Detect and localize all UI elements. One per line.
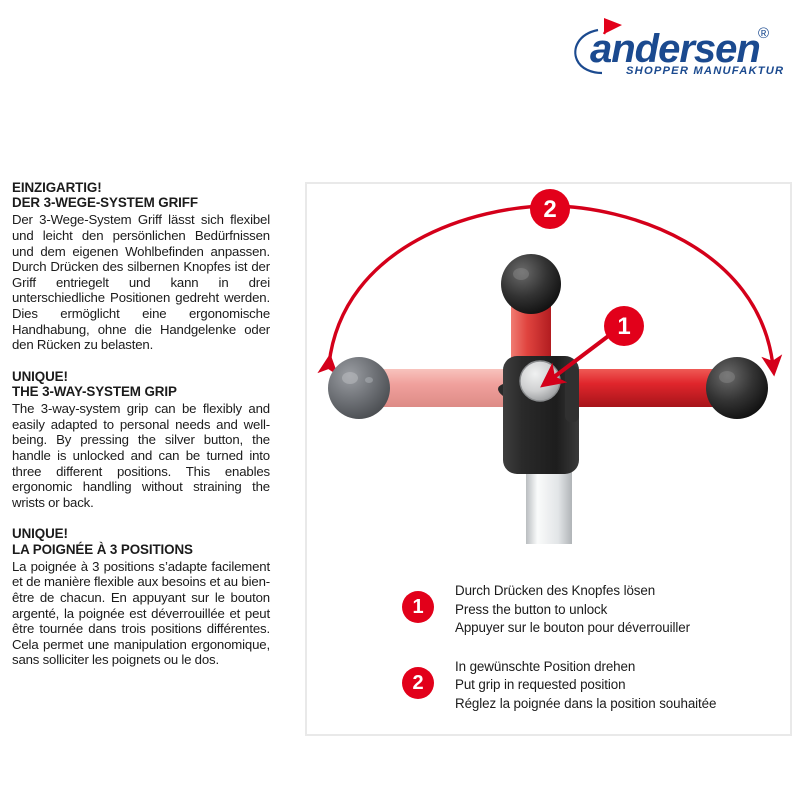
section-en-heading-line1: UNIQUE! — [12, 369, 270, 384]
legend-1-en: Press the button to unlock — [455, 601, 690, 620]
legend-text-2: In gewünschte Position drehen Put grip i… — [455, 658, 716, 714]
legend-text-1: Durch Drücken des Knopfes lösen Press th… — [455, 582, 690, 638]
section-fr-heading-line1: UNIQUE! — [12, 526, 270, 541]
section-en-heading-line2: THE 3-WAY-SYSTEM GRIP — [12, 384, 270, 399]
section-en-heading: UNIQUE! THE 3-WAY-SYSTEM GRIP — [12, 369, 270, 399]
legend-item-2: 2 In gewünschte Position drehen Put grip… — [402, 658, 782, 714]
legend-1-fr: Appuyer sur le bouton pour déverrouiller — [455, 619, 690, 638]
grip-ball-up — [501, 254, 561, 314]
illustration-panel: 1 2 1 Durch Drücken des Knopfes lösen Pr… — [305, 182, 792, 736]
callout-2-number: 2 — [543, 196, 556, 223]
callout-1-number: 1 — [617, 313, 630, 340]
legend-badge-1: 1 — [402, 591, 434, 623]
section-de-body: Der 3-Wege-System Griff lässt sich flexi… — [12, 212, 270, 352]
legend-item-1: 1 Durch Drücken des Knopfes lösen Press … — [402, 582, 782, 638]
section-fr: UNIQUE! LA POIGNÉE À 3 POSITIONS La poig… — [12, 526, 270, 668]
grip-ball-left-faded — [328, 357, 390, 419]
description-column: EINZIGARTIG! DER 3-WEGE-SYSTEM GRIFF Der… — [12, 180, 270, 668]
grip-ball-right — [706, 357, 768, 419]
section-en-body: The 3-way-system grip can be flexibly an… — [12, 401, 270, 510]
section-de-heading: EINZIGARTIG! DER 3-WEGE-SYSTEM GRIFF — [12, 180, 270, 210]
section-fr-heading: UNIQUE! LA POIGNÉE À 3 POSITIONS — [12, 526, 270, 556]
grip-illustration-svg: 1 2 — [307, 184, 794, 544]
legend-1-de: Durch Drücken des Knopfes lösen — [455, 582, 690, 601]
registered-trademark-icon: ® — [758, 25, 769, 42]
grip-arm-right — [557, 357, 768, 419]
legend-2-fr: Réglez la poignée dans la position souha… — [455, 695, 716, 714]
grip-product-image: 1 2 — [307, 184, 794, 544]
legend-2-de: In gewünschte Position drehen — [455, 658, 716, 677]
logo-tagline: SHOPPER MANUFAKTUR — [626, 65, 784, 76]
section-en: UNIQUE! THE 3-WAY-SYSTEM GRIP The 3-way-… — [12, 369, 270, 511]
section-fr-heading-line2: LA POIGNÉE À 3 POSITIONS — [12, 542, 270, 557]
legend-2-en: Put grip in requested position — [455, 676, 716, 695]
legend-badge-2: 2 — [402, 667, 434, 699]
legend-list: 1 Durch Drücken des Knopfes lösen Press … — [402, 582, 782, 734]
callout-2-badge: 2 — [530, 189, 570, 229]
andersen-logo: andersen ® SHOPPER MANUFAKTUR — [568, 18, 784, 76]
section-de: EINZIGARTIG! DER 3-WEGE-SYSTEM GRIFF Der… — [12, 180, 270, 353]
section-fr-body: La poignée à 3 positions s’adapte facile… — [12, 559, 270, 668]
logo-svg: andersen ® SHOPPER MANUFAKTUR — [568, 18, 784, 76]
callout-1-badge: 1 — [604, 306, 644, 346]
section-de-heading-line2: DER 3-WEGE-SYSTEM GRIFF — [12, 195, 270, 210]
grip-hub — [498, 356, 579, 474]
section-de-heading-line1: EINZIGARTIG! — [12, 180, 270, 195]
